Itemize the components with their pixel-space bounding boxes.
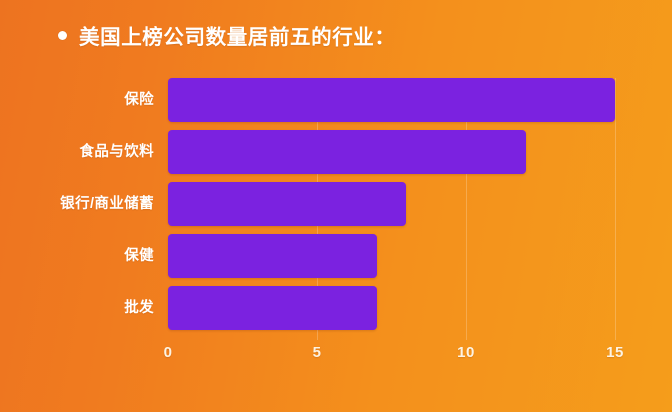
bar-row: 批发 xyxy=(168,286,615,330)
bar-row: 保险 xyxy=(168,78,615,122)
slide-canvas: 美国上榜公司数量居前五的行业： 保险食品与饮料银行/商业储蓄保健批发 05101… xyxy=(0,0,672,412)
gridline xyxy=(615,78,616,340)
x-axis-tick-label: 0 xyxy=(164,344,173,361)
category-label: 食品与饮料 xyxy=(80,130,155,174)
x-axis-tick-label: 5 xyxy=(313,344,322,361)
bar-row: 保健 xyxy=(168,234,615,278)
category-label: 保险 xyxy=(124,78,154,122)
bar-row: 食品与饮料 xyxy=(168,130,615,174)
bar-row: 银行/商业储蓄 xyxy=(168,182,615,226)
bar[interactable] xyxy=(168,182,406,226)
category-label: 保健 xyxy=(124,234,154,278)
category-label: 银行/商业储蓄 xyxy=(60,182,154,226)
x-axis: 051015 xyxy=(168,344,615,366)
x-axis-tick-label: 10 xyxy=(457,344,475,361)
bar[interactable] xyxy=(168,130,526,174)
bullet-dot-icon xyxy=(58,31,67,40)
x-axis-tick-label: 15 xyxy=(606,344,624,361)
category-label: 批发 xyxy=(124,286,154,330)
page-title: 美国上榜公司数量居前五的行业： xyxy=(58,20,396,50)
page-title-text: 美国上榜公司数量居前五的行业： xyxy=(79,20,396,50)
bar[interactable] xyxy=(168,78,615,122)
bar-chart-plot-area: 保险食品与饮料银行/商业储蓄保健批发 xyxy=(168,78,615,340)
bar[interactable] xyxy=(168,286,377,330)
bar[interactable] xyxy=(168,234,377,278)
